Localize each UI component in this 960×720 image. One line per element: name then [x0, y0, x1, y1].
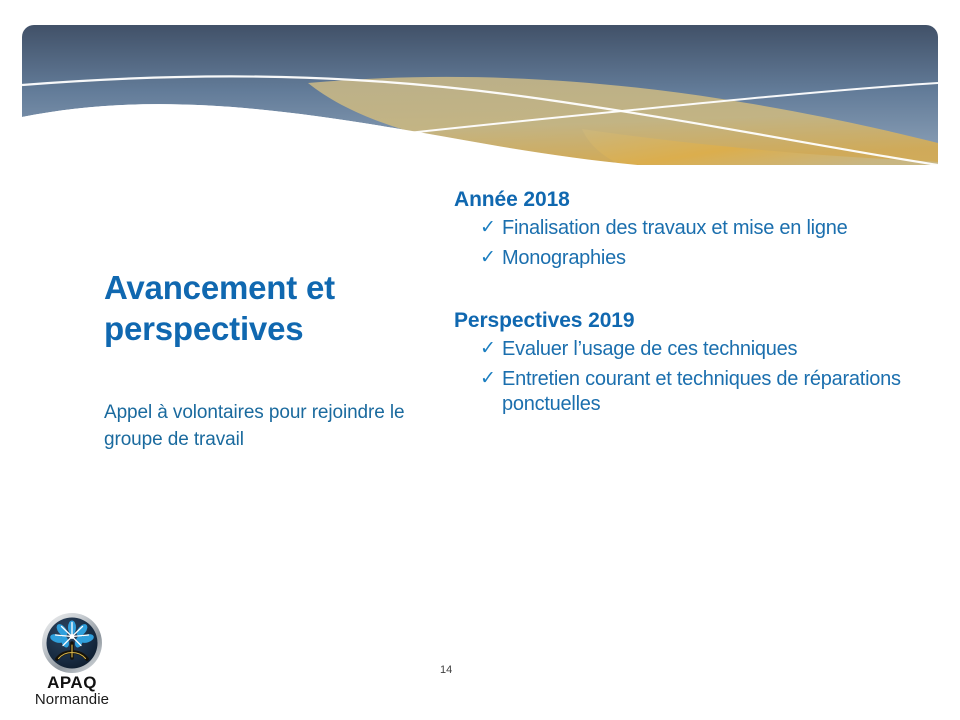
logo-region: Normandie — [24, 692, 120, 709]
check-icon: ✓ — [480, 367, 496, 391]
slide-left-column: Avancement et perspectives Appel à volon… — [104, 268, 424, 454]
presentation-slide: Avancement et perspectives Appel à volon… — [0, 0, 960, 720]
bullet-list: ✓ Finalisation des travaux et mise en li… — [454, 216, 916, 271]
apaq-flower-medallion-icon — [41, 612, 103, 674]
section-heading: Année 2018 — [454, 188, 916, 212]
list-item: ✓ Finalisation des travaux et mise en li… — [454, 216, 916, 242]
list-item-label: Finalisation des travaux et mise en lign… — [502, 217, 848, 239]
apaq-normandie-logo: APAQ Normandie — [24, 612, 120, 708]
slide-subtitle: Appel à volontaires pour rejoindre le gr… — [104, 400, 424, 454]
page-title: Avancement et perspectives — [104, 268, 424, 350]
list-item: ✓ Entretien courant et techniques de rép… — [454, 367, 916, 418]
section-spacer — [454, 275, 916, 309]
content-section-annee-2018: Année 2018 ✓ Finalisation des travaux et… — [454, 188, 916, 271]
content-section-perspectives-2019: Perspectives 2019 ✓ Evaluer l’usage de c… — [454, 309, 916, 418]
section-heading: Perspectives 2019 — [454, 309, 916, 333]
slide-header-banner — [22, 25, 938, 165]
check-icon: ✓ — [480, 246, 496, 270]
list-item: ✓ Evaluer l’usage de ces techniques — [454, 337, 916, 363]
list-item: ✓ Monographies — [454, 246, 916, 272]
check-icon: ✓ — [480, 216, 496, 240]
list-item-label: Evaluer l’usage de ces techniques — [502, 338, 797, 360]
page-number: 14 — [440, 664, 452, 676]
logo-name: APAQ — [24, 674, 120, 692]
list-item-label: Entretien courant et techniques de répar… — [502, 368, 901, 416]
list-item-label: Monographies — [502, 247, 626, 269]
slide-right-column: Année 2018 ✓ Finalisation des travaux et… — [454, 188, 916, 422]
bullet-list: ✓ Evaluer l’usage de ces techniques ✓ En… — [454, 337, 916, 418]
check-icon: ✓ — [480, 337, 496, 361]
